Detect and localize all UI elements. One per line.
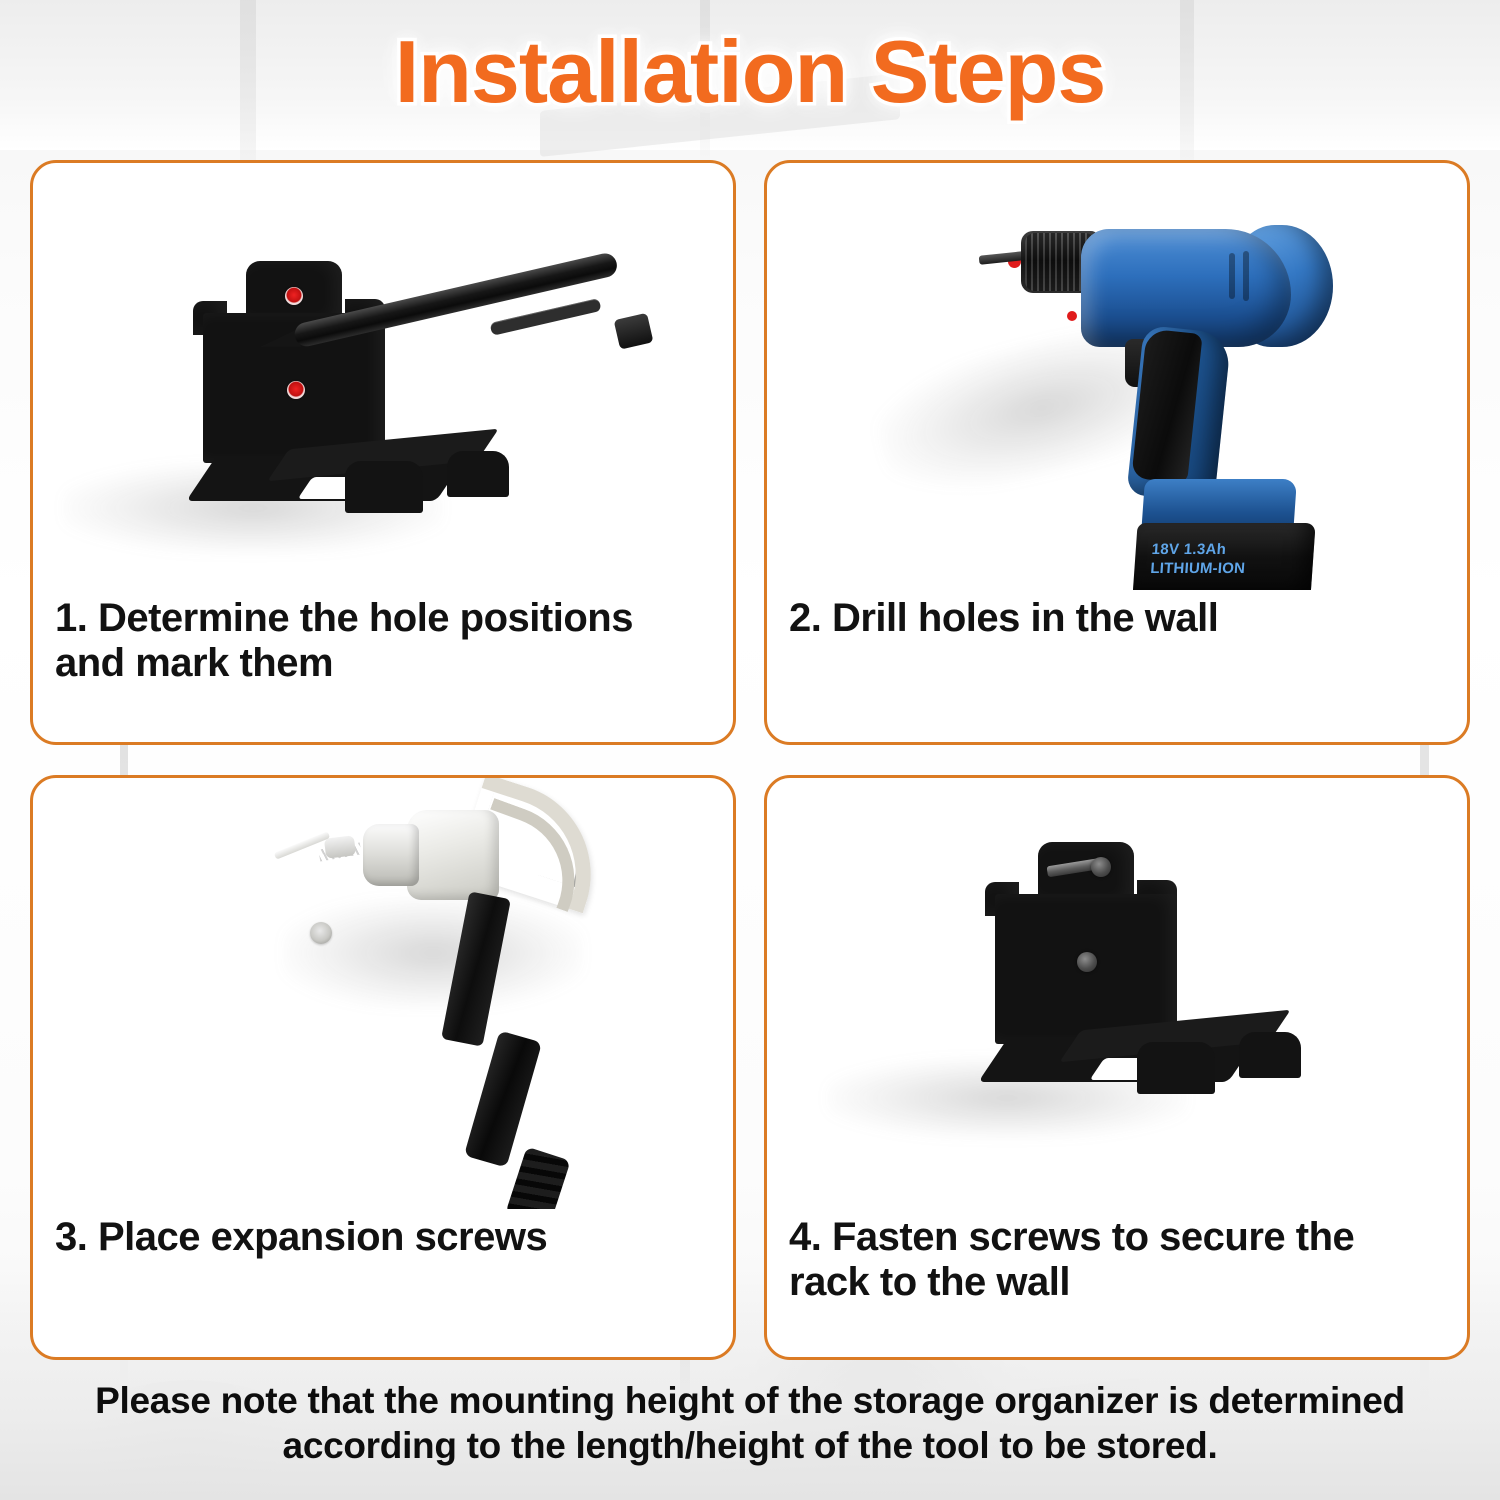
drill-vent — [1229, 253, 1235, 299]
expansion-screw-head — [324, 835, 356, 859]
red-hole-mark-bottom — [1067, 311, 1077, 321]
step-1-caption: 1. Determine the hole positions and mark… — [33, 590, 733, 742]
hammer-handle-mid — [464, 1030, 542, 1167]
step-2-illustration: 18V 1.3Ah LITHIUM-ION — [767, 163, 1467, 590]
footer-note: Please note that the mounting height of … — [40, 1378, 1460, 1468]
hammer-head-face — [363, 824, 419, 886]
step-4-illustration — [767, 778, 1467, 1209]
red-hole-mark-bottom — [287, 381, 305, 399]
step-4-caption: 4. Fasten screws to secure the rack to t… — [767, 1209, 1467, 1357]
step-card-4: 4. Fasten screws to secure the rack to t… — [764, 775, 1470, 1360]
hammer-handle-grip — [505, 1147, 570, 1209]
bracket-hook-far — [447, 451, 509, 497]
bracket-hook-near — [345, 461, 423, 513]
red-hole-mark-top — [285, 287, 303, 305]
step-2-caption: 2. Drill holes in the wall — [767, 590, 1467, 742]
screw-top — [1091, 857, 1111, 877]
steps-grid: 1. Determine the hole positions and mark… — [30, 160, 1470, 1360]
step-3-caption: 3. Place expansion screws — [33, 1209, 733, 1357]
drill-vent — [1243, 251, 1249, 301]
drill-battery-label: 18V 1.3Ah LITHIUM-ION — [1150, 541, 1303, 579]
pen-clip — [490, 298, 602, 336]
wall-anchor-hole — [310, 922, 332, 944]
pen-cap — [614, 313, 654, 350]
battery-voltage-text: 18V 1.3Ah — [1151, 541, 1302, 560]
hammer-shadow — [283, 898, 583, 1008]
step-3-illustration — [33, 778, 733, 1209]
bracket-hook-near — [1137, 1042, 1215, 1094]
installation-steps-infographic: Installation Steps — [0, 0, 1500, 1500]
step-card-1: 1. Determine the hole positions and mark… — [30, 160, 736, 745]
hammer-head-neck — [407, 810, 499, 900]
step-card-2: 18V 1.3Ah LITHIUM-ION 2. Drill holes in … — [764, 160, 1470, 745]
step-1-illustration — [33, 163, 733, 590]
battery-chemistry-text: LITHIUM-ION — [1150, 560, 1301, 579]
step-card-3: 3. Place expansion screws — [30, 775, 736, 1360]
screw-bottom — [1077, 952, 1097, 972]
bracket-hook-far — [1239, 1032, 1301, 1078]
page-title: Installation Steps — [0, 28, 1500, 116]
